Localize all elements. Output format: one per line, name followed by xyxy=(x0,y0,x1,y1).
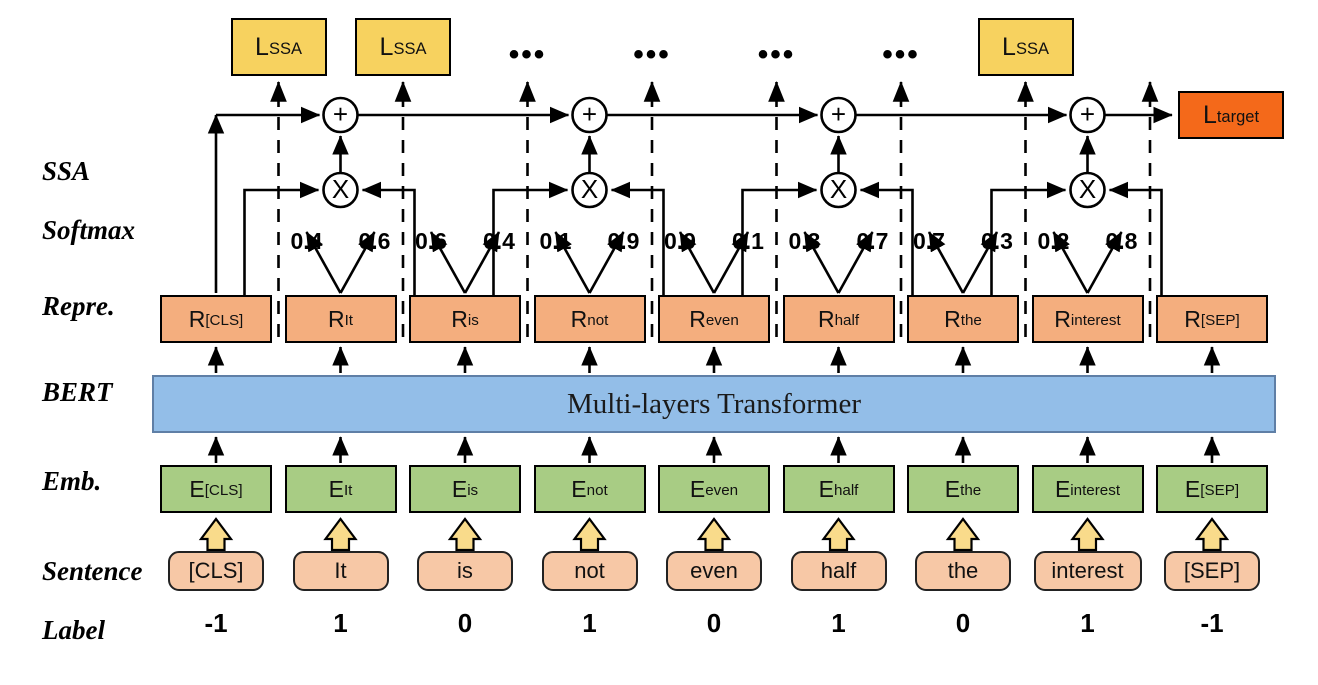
times-operator-3-glyph: X xyxy=(1070,176,1106,202)
row-label-sentence: Sentence xyxy=(42,556,143,587)
loss-ssa-sub-0: SSA xyxy=(269,41,302,58)
repr-box-the: Rthe xyxy=(907,295,1019,343)
sentence-to-emb-arrow-2 xyxy=(450,519,480,550)
diagram-canvas: SSA Softmax Repre. BERT Emb. Sentence La… xyxy=(0,0,1318,685)
emb-main-5: E xyxy=(819,478,834,501)
sentence-to-emb-arrow-0 xyxy=(201,519,231,550)
row-label-repre: Repre. xyxy=(42,291,115,322)
repr-box-half: Rhalf xyxy=(783,295,895,343)
emb-main-3: E xyxy=(571,478,586,501)
loss-target-main: L xyxy=(1203,103,1217,128)
label-value-8: -1 xyxy=(1172,608,1252,639)
emb-main-7: E xyxy=(1055,478,1070,501)
softmax-weight-right-5: 0.7 xyxy=(845,228,901,255)
emb-main-1: E xyxy=(329,478,344,501)
loss-ssa-sub-2: SSA xyxy=(1016,41,1049,58)
repr-sub-2: is xyxy=(468,313,479,328)
repr-main-2: R xyxy=(451,308,468,331)
emb-sub-4: even xyxy=(705,483,738,498)
sentence-to-emb-arrow-6 xyxy=(948,519,978,550)
softmax-weight-right-1: 0.6 xyxy=(347,228,403,255)
repr-sub-6: the xyxy=(961,313,982,328)
softmax-weight-left-3: 0.1 xyxy=(528,228,584,255)
row-label-bert: BERT xyxy=(42,377,113,408)
row-label-ssa: SSA xyxy=(42,156,90,187)
softmax-weight-left-7: 0.2 xyxy=(1026,228,1082,255)
loss-target-box: Ltarget xyxy=(1178,91,1284,139)
emb-sub-5: half xyxy=(834,483,858,498)
label-value-6: 0 xyxy=(923,608,1003,639)
sentence-to-emb-arrow-5 xyxy=(824,519,854,550)
softmax-weight-left-5: 0.3 xyxy=(777,228,833,255)
loss-ellipsis-1: ••• xyxy=(626,40,678,70)
loss-ellipsis-0: ••• xyxy=(502,40,554,70)
loss-ssa-main-1: L xyxy=(380,35,394,60)
repr-sub-3: not xyxy=(587,313,608,328)
emb-box-it: EIt xyxy=(285,465,397,513)
loss-ssa-main-0: L xyxy=(255,35,269,60)
emb-box-the: Ethe xyxy=(907,465,1019,513)
sentence-token-not[interactable]: not xyxy=(542,551,638,591)
label-value-7: 1 xyxy=(1048,608,1128,639)
emb-main-0: E xyxy=(189,478,204,501)
emb-sub-8: [SEP] xyxy=(1200,483,1239,498)
emb-sub-0: [CLS] xyxy=(205,483,243,498)
repr-sub-1: It xyxy=(345,313,353,328)
plus-operator-1-glyph: + xyxy=(572,101,608,127)
repr-main-6: R xyxy=(944,308,961,331)
loss-ellipsis-3: ••• xyxy=(875,40,927,70)
repr-box-is: Ris xyxy=(409,295,521,343)
repr-sub-5: half xyxy=(835,313,859,328)
plus-operator-0-glyph: + xyxy=(323,101,359,127)
sentence-token-interest[interactable]: interest xyxy=(1034,551,1142,591)
bert-transformer-label: Multi-layers Transformer xyxy=(567,388,861,421)
repr-main-0: R xyxy=(189,308,206,331)
loss-ssa-box-2: LSSA xyxy=(978,18,1074,76)
softmax-weight-left-2: 0.6 xyxy=(403,228,459,255)
emb-box-is: Eis xyxy=(409,465,521,513)
softmax-weight-right-7: 0.8 xyxy=(1094,228,1150,255)
repr-main-4: R xyxy=(689,308,706,331)
label-value-2: 0 xyxy=(425,608,505,639)
softmax-weight-left-6: 0.7 xyxy=(901,228,957,255)
row-label-emb: Emb. xyxy=(42,466,101,497)
emb-box-half: Ehalf xyxy=(783,465,895,513)
softmax-weight-left-1: 0.4 xyxy=(279,228,335,255)
loss-ssa-main-2: L xyxy=(1002,35,1016,60)
sentence-token-sep[interactable]: [SEP] xyxy=(1164,551,1260,591)
repr-main-5: R xyxy=(818,308,835,331)
emb-box-sep: E[SEP] xyxy=(1156,465,1268,513)
sentence-to-emb-arrow-3 xyxy=(575,519,605,550)
times-operator-0-glyph: X xyxy=(323,176,359,202)
emb-box-not: Enot xyxy=(534,465,646,513)
loss-ellipsis-2: ••• xyxy=(751,40,803,70)
label-value-4: 0 xyxy=(674,608,754,639)
repr-sub-8: [SEP] xyxy=(1201,313,1240,328)
softmax-weight-right-4: 0.1 xyxy=(720,228,776,255)
repr-box-cls: R[CLS] xyxy=(160,295,272,343)
emb-main-4: E xyxy=(690,478,705,501)
repr-box-sep: R[SEP] xyxy=(1156,295,1268,343)
sentence-token-the[interactable]: the xyxy=(915,551,1011,591)
plus-operator-3-glyph: + xyxy=(1070,101,1106,127)
sentence-to-emb-arrow-1 xyxy=(326,519,356,550)
repr-box-even: Reven xyxy=(658,295,770,343)
label-value-5: 1 xyxy=(799,608,879,639)
emb-sub-6: the xyxy=(960,483,981,498)
repr-main-3: R xyxy=(571,308,588,331)
row-label-softmax: Softmax xyxy=(42,215,135,246)
times-operator-2-glyph: X xyxy=(821,176,857,202)
sentence-token-cls[interactable]: [CLS] xyxy=(168,551,264,591)
softmax-weight-right-3: 0.9 xyxy=(596,228,652,255)
loss-ssa-box-0: LSSA xyxy=(231,18,327,76)
plus-operator-2-glyph: + xyxy=(821,101,857,127)
emb-sub-1: It xyxy=(344,483,352,498)
emb-sub-7: interest xyxy=(1070,483,1120,498)
emb-main-8: E xyxy=(1185,478,1200,501)
emb-main-6: E xyxy=(945,478,960,501)
emb-sub-2: is xyxy=(467,483,478,498)
sentence-to-emb-arrow-8 xyxy=(1197,519,1227,550)
emb-box-cls: E[CLS] xyxy=(160,465,272,513)
repr-box-interest: Rinterest xyxy=(1032,295,1144,343)
emb-sub-3: not xyxy=(587,483,608,498)
emb-main-2: E xyxy=(452,478,467,501)
emb-box-even: Eeven xyxy=(658,465,770,513)
emb-box-interest: Einterest xyxy=(1032,465,1144,513)
loss-target-sub: target xyxy=(1217,109,1259,126)
repr-sub-4: even xyxy=(706,313,739,328)
softmax-weight-right-2: 0.4 xyxy=(471,228,527,255)
sentence-token-half[interactable]: half xyxy=(791,551,887,591)
repr-box-it: RIt xyxy=(285,295,397,343)
repr-sub-7: interest xyxy=(1071,313,1121,328)
bert-transformer-bar: Multi-layers Transformer xyxy=(152,375,1276,433)
repr-main-1: R xyxy=(328,308,345,331)
sentence-to-emb-arrow-4 xyxy=(699,519,729,550)
repr-main-7: R xyxy=(1054,308,1071,331)
label-value-1: 1 xyxy=(301,608,381,639)
sentence-to-emb-arrow-7 xyxy=(1073,519,1103,550)
row-label-label: Label xyxy=(42,615,105,646)
repr-main-8: R xyxy=(1184,308,1201,331)
repr-sub-0: [CLS] xyxy=(205,313,243,328)
times-operator-1-glyph: X xyxy=(572,176,608,202)
loss-ssa-box-1: LSSA xyxy=(355,18,451,76)
softmax-weight-left-4: 0.9 xyxy=(652,228,708,255)
sentence-token-even[interactable]: even xyxy=(666,551,762,591)
label-value-0: -1 xyxy=(176,608,256,639)
sentence-token-it[interactable]: It xyxy=(293,551,389,591)
sentence-token-is[interactable]: is xyxy=(417,551,513,591)
repr-box-not: Rnot xyxy=(534,295,646,343)
loss-ssa-sub-1: SSA xyxy=(393,41,426,58)
softmax-weight-right-6: 0.3 xyxy=(969,228,1025,255)
label-value-3: 1 xyxy=(550,608,630,639)
